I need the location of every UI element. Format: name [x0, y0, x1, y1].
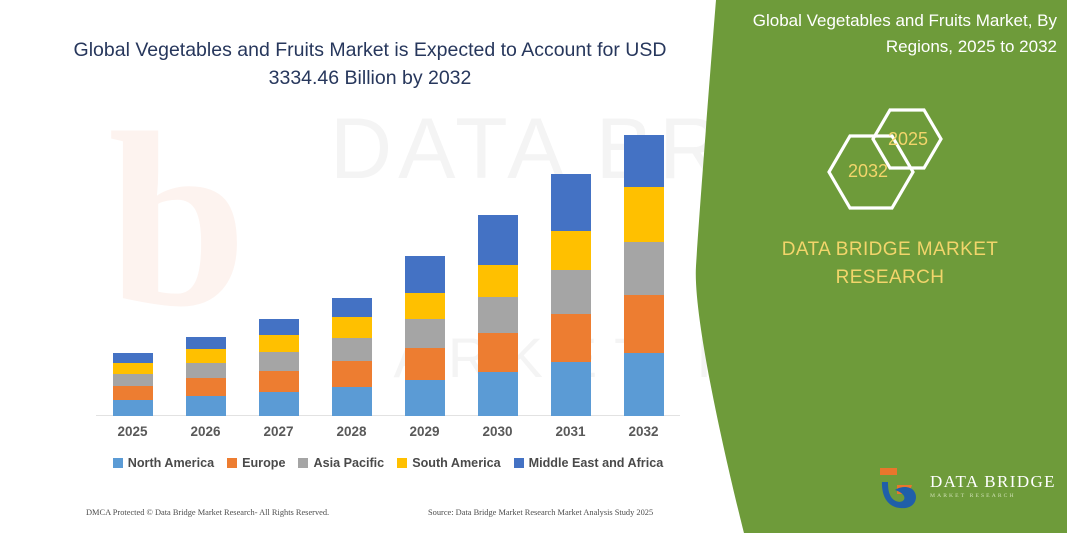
bar-column [461, 120, 534, 416]
stacked-bar[interactable] [259, 319, 299, 416]
bar-segment [478, 215, 518, 265]
legend-label: Europe [242, 456, 285, 470]
legend-item[interactable]: Middle East and Africa [514, 456, 664, 470]
legend-item[interactable]: Asia Pacific [298, 456, 384, 470]
side-panel-brand: DATA BRIDGE MARKET RESEARCH [750, 236, 1030, 292]
bar-segment [259, 371, 299, 392]
x-axis-tick-label: 2025 [96, 424, 169, 439]
side-panel-title: Global Vegetables and Fruits Market, By … [740, 8, 1057, 60]
bar-segment [551, 270, 591, 314]
bar-segment [186, 349, 226, 363]
bar-segment [332, 338, 372, 361]
bar-segment [551, 314, 591, 362]
bar-segment [113, 363, 153, 374]
x-axis-tick-label: 2026 [169, 424, 242, 439]
bar-segment [624, 353, 664, 416]
bar-segment [551, 231, 591, 270]
legend-item[interactable]: Europe [227, 456, 285, 470]
footer-copyright: DMCA Protected © Data Bridge Market Rese… [86, 508, 329, 517]
logo-mark-icon [876, 466, 926, 512]
bar-segment [113, 374, 153, 386]
bar-segment [624, 187, 664, 242]
bar-segment [478, 372, 518, 416]
logo-name: DATA BRIDGE [930, 472, 1056, 492]
bar-segment [405, 256, 445, 293]
footer-source: Source: Data Bridge Market Research Mark… [428, 508, 653, 517]
bar-column [169, 120, 242, 416]
bar-segment [113, 353, 153, 363]
bar-segment [113, 400, 153, 416]
bar-segment [259, 392, 299, 416]
legend-label: Asia Pacific [313, 456, 384, 470]
bar-segment [113, 386, 153, 400]
legend-swatch-icon [397, 458, 407, 468]
bar-segment [551, 174, 591, 231]
bar-segment [186, 396, 226, 416]
bar-segment [405, 293, 445, 319]
infographic-root: b DATA BRIDGE MARKET RESEARCH Global Veg… [0, 0, 1067, 533]
hexagon-group: 2025 2032 [820, 96, 1030, 216]
hexagon-label-2032: 2032 [848, 161, 888, 182]
stacked-bar[interactable] [113, 353, 153, 416]
bar-group [96, 120, 680, 416]
x-axis-tick-label: 2028 [315, 424, 388, 439]
x-axis-tick-label: 2030 [461, 424, 534, 439]
legend-item[interactable]: North America [113, 456, 214, 470]
chart-title: Global Vegetables and Fruits Market is E… [60, 36, 680, 92]
bar-segment [259, 352, 299, 371]
stacked-bar[interactable] [405, 256, 445, 416]
legend-swatch-icon [298, 458, 308, 468]
bar-segment [624, 135, 664, 187]
bar-segment [332, 361, 372, 387]
legend-swatch-icon [514, 458, 524, 468]
bar-segment [405, 380, 445, 416]
bar-segment [259, 335, 299, 352]
stacked-bar[interactable] [624, 135, 664, 416]
bar-column [242, 120, 315, 416]
bar-segment [551, 362, 591, 416]
x-axis-tick-label: 2031 [534, 424, 607, 439]
chart-legend: North AmericaEuropeAsia PacificSouth Ame… [96, 456, 680, 470]
legend-label: South America [412, 456, 500, 470]
bar-segment [478, 297, 518, 333]
x-axis-labels: 20252026202720282029203020312032 [96, 424, 680, 439]
stacked-bar[interactable] [478, 215, 518, 416]
bar-segment [186, 378, 226, 396]
legend-label: Middle East and Africa [529, 456, 664, 470]
bar-column [388, 120, 461, 416]
hexagon-label-2025: 2025 [888, 129, 928, 150]
bar-column [534, 120, 607, 416]
bar-segment [405, 319, 445, 348]
data-bridge-logo: DATA BRIDGE MARKET RESEARCH [876, 466, 1056, 516]
bar-segment [186, 363, 226, 378]
legend-label: North America [128, 456, 214, 470]
x-axis-tick-label: 2027 [242, 424, 315, 439]
legend-item[interactable]: South America [397, 456, 500, 470]
x-axis-tick-label: 2029 [388, 424, 461, 439]
bar-segment [186, 337, 226, 349]
x-axis-tick-label: 2032 [607, 424, 680, 439]
side-panel: Global Vegetables and Fruits Market, By … [700, 0, 1067, 533]
bar-segment [332, 317, 372, 338]
bar-segment [478, 265, 518, 297]
bar-column [607, 120, 680, 416]
legend-swatch-icon [113, 458, 123, 468]
bar-segment [624, 242, 664, 295]
stacked-bar[interactable] [551, 174, 591, 416]
bar-segment [405, 348, 445, 380]
bar-segment [332, 298, 372, 317]
bar-segment [478, 333, 518, 372]
stacked-bar[interactable] [186, 337, 226, 416]
bar-segment [332, 387, 372, 416]
bar-segment [624, 295, 664, 353]
stacked-bar[interactable] [332, 298, 372, 416]
hexagon-svg [820, 96, 1030, 216]
logo-tagline: MARKET RESEARCH [930, 493, 1016, 499]
legend-swatch-icon [227, 458, 237, 468]
bar-column [96, 120, 169, 416]
chart-plot-area [96, 120, 680, 416]
bar-column [315, 120, 388, 416]
bar-segment [259, 319, 299, 335]
